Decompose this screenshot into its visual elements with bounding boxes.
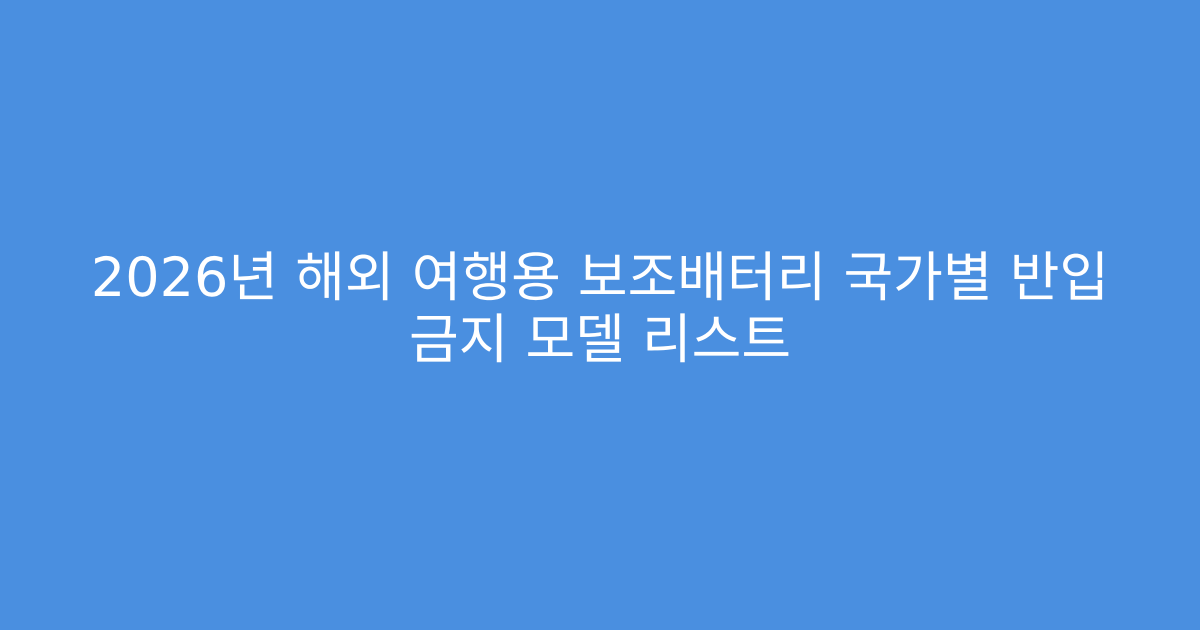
og-card: 2026년 해외 여행용 보조배터리 국가별 반입 금지 모델 리스트 <box>0 0 1200 630</box>
page-title: 2026년 해외 여행용 보조배터리 국가별 반입 금지 모델 리스트 <box>60 247 1140 371</box>
title-block: 2026년 해외 여행용 보조배터리 국가별 반입 금지 모델 리스트 <box>0 247 1200 371</box>
